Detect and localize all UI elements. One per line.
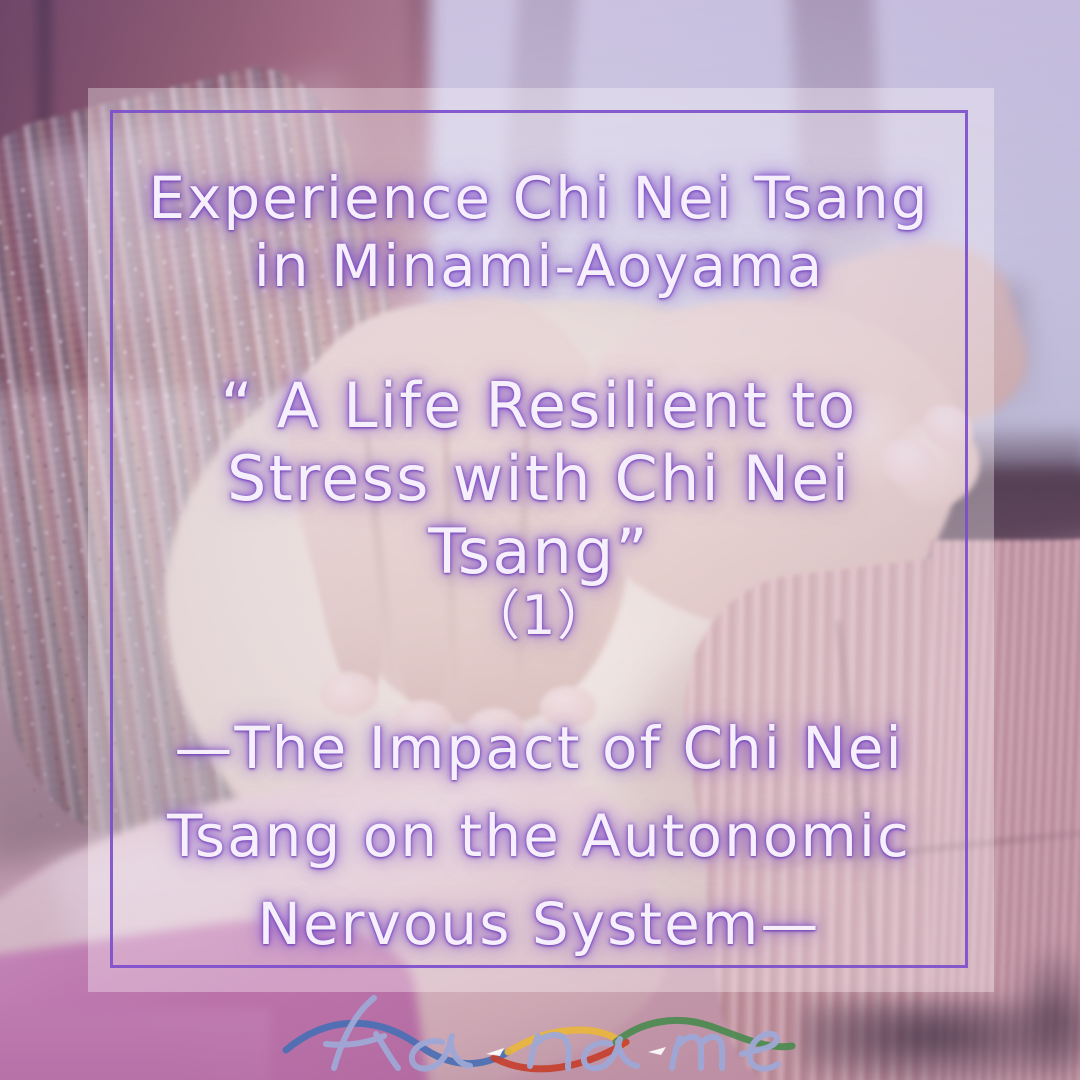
overlay-border-frame [110, 110, 968, 968]
brand-logo [280, 992, 800, 1078]
poster-canvas: Experience Chi Nei Tsang in Minami-Aoyam… [0, 0, 1080, 1080]
